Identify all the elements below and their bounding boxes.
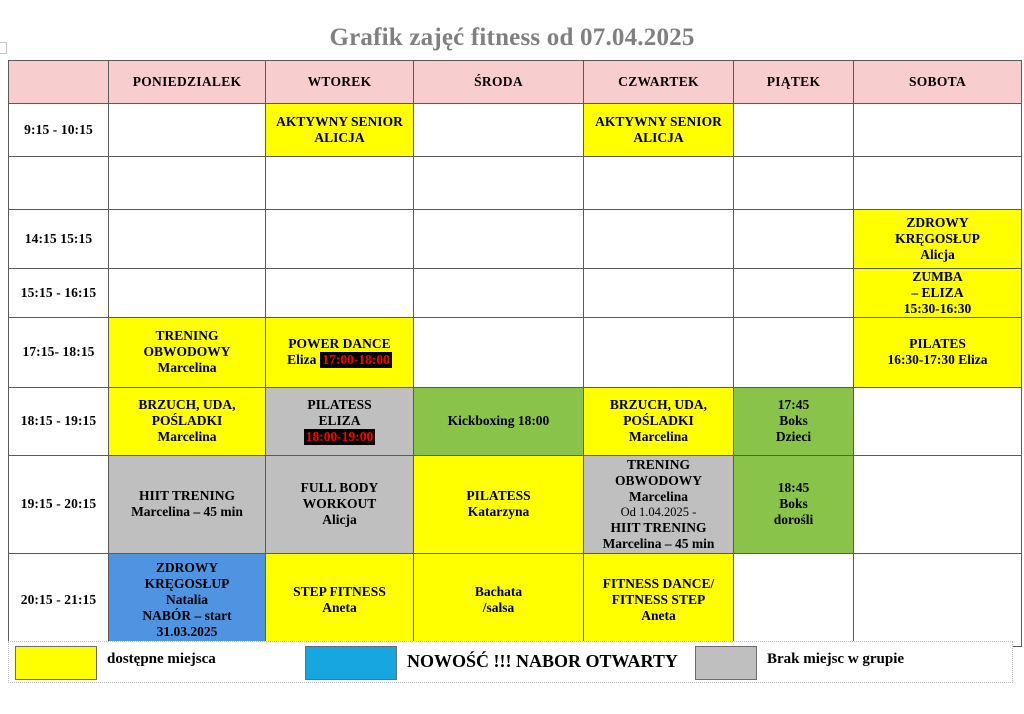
class-text-line: ZDROWY bbox=[856, 215, 1019, 231]
class-text-line: KRĘGOSŁUP bbox=[856, 231, 1019, 247]
class-cell-tuesday[interactable]: AKTYWNY SENIORALICJA bbox=[266, 104, 414, 157]
class-cell-content: TRENINGOBWODOWYMarcelina bbox=[111, 328, 263, 376]
class-cell-wednesday[interactable]: PILATESSKatarzyna bbox=[414, 455, 584, 553]
class-text-line: Aneta bbox=[268, 600, 411, 616]
time-slot-label: 9:15 - 10:15 bbox=[9, 104, 109, 157]
class-text-line: AKTYWNY SENIOR bbox=[586, 114, 731, 130]
class-cell-content: AKTYWNY SENIORALICJA bbox=[268, 114, 411, 146]
class-cell-content: PILATESSELIZA18:00-19:00 bbox=[268, 397, 411, 445]
class-cell-saturday[interactable] bbox=[854, 157, 1022, 210]
class-cell-monday[interactable] bbox=[109, 210, 266, 269]
class-cell-content: BRZUCH, UDA,POŚLADKIMarcelina bbox=[586, 397, 731, 445]
schedule-row: 17:15- 18:15TRENINGOBWODOWYMarcelinaPOWE… bbox=[9, 317, 1022, 387]
class-cell-content: AKTYWNY SENIORALICJA bbox=[586, 114, 731, 146]
class-cell-tuesday[interactable] bbox=[266, 269, 414, 318]
class-text-line: OBWODOWY bbox=[586, 473, 731, 489]
schedule-row: 18:15 - 19:15BRZUCH, UDA,POŚLADKIMarceli… bbox=[9, 387, 1022, 455]
class-cell-saturday[interactable]: ZUMBA– ELIZA15:30-16:30 bbox=[854, 269, 1022, 318]
class-cell-friday[interactable] bbox=[734, 553, 854, 646]
header-thursday: CZWARTEK bbox=[584, 61, 734, 104]
class-cell-wednesday[interactable] bbox=[414, 157, 584, 210]
class-cell-thursday[interactable]: FITNESS DANCE/FITNESS STEPAneta bbox=[584, 553, 734, 646]
class-cell-monday[interactable]: HIIT TRENINGMarcelina – 45 min bbox=[109, 455, 266, 553]
class-cell-wednesday[interactable] bbox=[414, 269, 584, 318]
class-text-line: TRENING bbox=[111, 328, 263, 344]
time-slot-label: 19:15 - 20:15 bbox=[9, 455, 109, 553]
class-cell-content: FITNESS DANCE/FITNESS STEPAneta bbox=[586, 576, 731, 624]
class-text-line: PILATESS bbox=[416, 488, 581, 504]
highlighted-time-badge: 18:00-19:00 bbox=[304, 429, 376, 445]
time-slot-label: 18:15 - 19:15 bbox=[9, 387, 109, 455]
class-cell-friday[interactable] bbox=[734, 269, 854, 318]
time-slot-label bbox=[9, 157, 109, 210]
class-text-line: KRĘGOSŁUP bbox=[111, 576, 263, 592]
class-cell-saturday[interactable] bbox=[854, 553, 1022, 646]
highlighted-time-badge: 17:00-18:00 bbox=[320, 352, 392, 368]
class-cell-content: BRZUCH, UDA,POŚLADKIMarcelina bbox=[111, 397, 263, 445]
class-cell-thursday[interactable]: TRENINGOBWODOWYMarcelinaOd 1.04.2025 -HI… bbox=[584, 455, 734, 553]
class-text-line: Marcelina bbox=[586, 429, 731, 445]
header-corner bbox=[9, 61, 109, 104]
schedule-row: 20:15 - 21:15ZDROWYKRĘGOSŁUPNataliaNABÓR… bbox=[9, 553, 1022, 646]
class-cell-monday[interactable]: TRENINGOBWODOWYMarcelina bbox=[109, 317, 266, 387]
legend-swatch-new bbox=[305, 646, 397, 680]
class-cell-friday[interactable] bbox=[734, 157, 854, 210]
legend-label-full: Brak miejsc w grupie bbox=[767, 651, 904, 668]
class-cell-tuesday[interactable]: PILATESSELIZA18:00-19:00 bbox=[266, 387, 414, 455]
class-cell-wednesday[interactable] bbox=[414, 210, 584, 269]
class-text-line: ALICJA bbox=[586, 130, 731, 146]
class-cell-content: STEP FITNESSAneta bbox=[268, 584, 411, 616]
legend-label-new: NOWOŚĆ !!! NABOR OTWARTY bbox=[407, 651, 678, 672]
class-cell-thursday[interactable]: AKTYWNY SENIORALICJA bbox=[584, 104, 734, 157]
class-text-line: 17:45 bbox=[736, 397, 851, 413]
time-slot-label: 15:15 - 16:15 bbox=[9, 269, 109, 318]
instructor-name: Eliza bbox=[287, 352, 316, 367]
class-text-line: BRZUCH, UDA, bbox=[111, 397, 263, 413]
schedule-row: 19:15 - 20:15HIIT TRENINGMarcelina – 45 … bbox=[9, 455, 1022, 553]
class-note-line: Od 1.04.2025 - bbox=[586, 505, 731, 520]
header-tuesday: WTOREK bbox=[266, 61, 414, 104]
class-text-line: Natalia bbox=[111, 592, 263, 608]
class-cell-tuesday[interactable]: POWER DANCEEliza17:00-18:00 bbox=[266, 317, 414, 387]
class-text-line: POŚLADKI bbox=[111, 413, 263, 429]
class-cell-monday[interactable] bbox=[109, 104, 266, 157]
class-text-line: Katarzyna bbox=[416, 504, 581, 520]
class-cell-content: TRENINGOBWODOWYMarcelinaOd 1.04.2025 -HI… bbox=[586, 457, 731, 551]
class-text-line: 16:30-17:30 Eliza bbox=[856, 352, 1019, 368]
class-cell-wednesday[interactable]: Kickboxing 18:00 bbox=[414, 387, 584, 455]
class-cell-thursday[interactable] bbox=[584, 269, 734, 318]
class-text-line: Marcelina – 45 min bbox=[586, 536, 731, 552]
class-cell-friday[interactable] bbox=[734, 317, 854, 387]
class-text-line: HIIT TRENING bbox=[586, 520, 731, 536]
class-text-line: Aneta bbox=[586, 608, 731, 624]
class-text-line: PILATES bbox=[856, 336, 1019, 352]
highlighted-time-row: 18:00-19:00 bbox=[268, 429, 411, 445]
class-text-line: /salsa bbox=[416, 600, 581, 616]
class-text-line: POWER DANCE bbox=[268, 336, 411, 352]
class-cell-friday[interactable]: 17:45BoksDzieci bbox=[734, 387, 854, 455]
schedule-row: 9:15 - 10:15AKTYWNY SENIORALICJAAKTYWNY … bbox=[9, 104, 1022, 157]
class-cell-content: ZDROWYKRĘGOSŁUPNataliaNABÓR – start31.03… bbox=[111, 560, 263, 640]
class-text-line: – ELIZA bbox=[856, 285, 1019, 301]
class-cell-saturday[interactable] bbox=[854, 455, 1022, 553]
class-cell-tuesday[interactable]: FULL BODYWORKOUTAlicja bbox=[266, 455, 414, 553]
class-text-line: 15:30-16:30 bbox=[856, 301, 1019, 317]
class-text-line: WORKOUT bbox=[268, 496, 411, 512]
class-cell-thursday[interactable] bbox=[584, 157, 734, 210]
class-cell-wednesday[interactable]: Bachata/salsa bbox=[414, 553, 584, 646]
class-cell-thursday[interactable] bbox=[584, 317, 734, 387]
class-cell-content: POWER DANCEEliza17:00-18:00 bbox=[268, 336, 411, 368]
class-cell-content: 17:45BoksDzieci bbox=[736, 397, 851, 445]
class-text-line: ZUMBA bbox=[856, 269, 1019, 285]
class-text-line: PILATESS bbox=[268, 397, 411, 413]
class-text-line: Boks bbox=[736, 496, 851, 512]
header-friday: PIĄTEK bbox=[734, 61, 854, 104]
legend-swatch-available bbox=[15, 646, 97, 680]
class-text-line: ALICJA bbox=[268, 130, 411, 146]
header-saturday: SOBOTA bbox=[854, 61, 1022, 104]
class-text-line: TRENING bbox=[586, 457, 731, 473]
class-text-line: Marcelina bbox=[586, 489, 731, 505]
schedule-row: 14:15 15:15ZDROWYKRĘGOSŁUPAlicja bbox=[9, 210, 1022, 269]
class-cell-content: PILATES16:30-17:30 Eliza bbox=[856, 336, 1019, 368]
class-text-line: BRZUCH, UDA, bbox=[586, 397, 731, 413]
table-body: 9:15 - 10:15AKTYWNY SENIORALICJAAKTYWNY … bbox=[9, 104, 1022, 647]
header-row: PONIEDZIALEK WTOREK ŚRODA CZWARTEK PIĄTE… bbox=[9, 61, 1022, 104]
class-cell-content: Kickboxing 18:00 bbox=[416, 413, 581, 429]
legend-swatch-full bbox=[695, 646, 757, 680]
class-text-line: ELIZA bbox=[268, 413, 411, 429]
class-cell-content: 18:45Boksdorośli bbox=[736, 480, 851, 528]
class-cell-saturday[interactable]: PILATES16:30-17:30 Eliza bbox=[854, 317, 1022, 387]
class-text-line: STEP FITNESS bbox=[268, 584, 411, 600]
class-text-line: Alicja bbox=[268, 512, 411, 528]
class-cell-saturday[interactable]: ZDROWYKRĘGOSŁUPAlicja bbox=[854, 210, 1022, 269]
class-text-line: OBWODOWY bbox=[111, 344, 263, 360]
class-cell-content: PILATESSKatarzyna bbox=[416, 488, 581, 520]
class-text-line: Marcelina – 45 min bbox=[111, 504, 263, 520]
class-text-line: FULL BODY bbox=[268, 480, 411, 496]
class-cell-monday[interactable] bbox=[109, 269, 266, 318]
class-cell-monday[interactable] bbox=[109, 157, 266, 210]
class-text-line: FITNESS DANCE/ bbox=[586, 576, 731, 592]
class-text-line: HIIT TRENING bbox=[111, 488, 263, 504]
class-cell-thursday[interactable]: BRZUCH, UDA,POŚLADKIMarcelina bbox=[584, 387, 734, 455]
class-text-line: Alicja bbox=[856, 247, 1019, 263]
legend-label-available: dostępne miejsca bbox=[107, 651, 216, 668]
class-text-line: NABÓR – start bbox=[111, 608, 263, 624]
class-text-line: AKTYWNY SENIOR bbox=[268, 114, 411, 130]
class-cell-content: ZUMBA– ELIZA15:30-16:30 bbox=[856, 269, 1019, 317]
class-text-line: Dzieci bbox=[736, 429, 851, 445]
class-cell-content: FULL BODYWORKOUTAlicja bbox=[268, 480, 411, 528]
class-cell-thursday[interactable] bbox=[584, 210, 734, 269]
class-cell-wednesday[interactable] bbox=[414, 104, 584, 157]
class-text-line: ZDROWY bbox=[111, 560, 263, 576]
class-cell-saturday[interactable] bbox=[854, 104, 1022, 157]
fitness-schedule-table: PONIEDZIALEK WTOREK ŚRODA CZWARTEK PIĄTE… bbox=[8, 60, 1022, 647]
class-text-line: FITNESS STEP bbox=[586, 592, 731, 608]
time-slot-label: 20:15 - 21:15 bbox=[9, 553, 109, 646]
class-cell-monday[interactable]: BRZUCH, UDA,POŚLADKIMarcelina bbox=[109, 387, 266, 455]
class-text-line: Marcelina bbox=[111, 429, 263, 445]
schedule-row: 15:15 - 16:15ZUMBA– ELIZA15:30-16:30 bbox=[9, 269, 1022, 318]
class-cell-content: HIIT TRENINGMarcelina – 45 min bbox=[111, 488, 263, 520]
class-cell-saturday[interactable] bbox=[854, 387, 1022, 455]
class-text-line: 18:45 bbox=[736, 480, 851, 496]
class-cell-tuesday[interactable]: STEP FITNESSAneta bbox=[266, 553, 414, 646]
class-cell-tuesday[interactable] bbox=[266, 157, 414, 210]
class-cell-friday[interactable] bbox=[734, 210, 854, 269]
page-title: Grafik zajęć fitness od 07.04.2025 bbox=[0, 24, 1024, 52]
header-wednesday: ŚRODA bbox=[414, 61, 584, 104]
header-monday: PONIEDZIALEK bbox=[109, 61, 266, 104]
class-text-line: Bachata bbox=[416, 584, 581, 600]
time-slot-label: 14:15 15:15 bbox=[9, 210, 109, 269]
class-cell-tuesday[interactable] bbox=[266, 210, 414, 269]
class-cell-content: Bachata/salsa bbox=[416, 584, 581, 616]
class-text-line: 31.03.2025 bbox=[111, 624, 263, 640]
class-text-line: Kickboxing 18:00 bbox=[416, 413, 581, 429]
class-text-line: Marcelina bbox=[111, 360, 263, 376]
time-slot-label: 17:15- 18:15 bbox=[9, 317, 109, 387]
class-cell-content: ZDROWYKRĘGOSŁUPAlicja bbox=[856, 215, 1019, 263]
class-cell-monday[interactable]: ZDROWYKRĘGOSŁUPNataliaNABÓR – start31.03… bbox=[109, 553, 266, 646]
class-cell-wednesday[interactable] bbox=[414, 317, 584, 387]
schedule-row bbox=[9, 157, 1022, 210]
table-header: PONIEDZIALEK WTOREK ŚRODA CZWARTEK PIĄTE… bbox=[9, 61, 1022, 104]
class-text-line: POŚLADKI bbox=[586, 413, 731, 429]
class-text-line: dorośli bbox=[736, 512, 851, 528]
instructor-and-time: Eliza17:00-18:00 bbox=[268, 352, 411, 368]
legend: dostępne miejsca NOWOŚĆ !!! NABOR OTWART… bbox=[8, 641, 1013, 683]
class-text-line: Boks bbox=[736, 413, 851, 429]
class-cell-friday[interactable]: 18:45Boksdorośli bbox=[734, 455, 854, 553]
class-cell-friday[interactable] bbox=[734, 104, 854, 157]
